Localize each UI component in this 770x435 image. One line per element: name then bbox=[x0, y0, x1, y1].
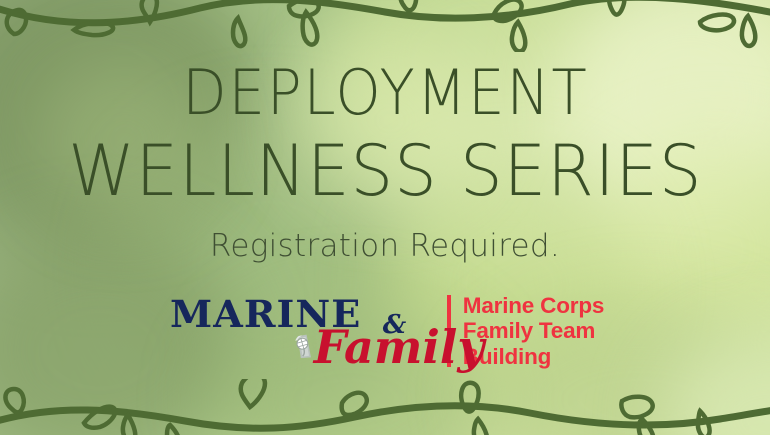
registration-subtitle: Registration Required. bbox=[210, 228, 560, 264]
title-line-1: DEPLOYMENT bbox=[182, 62, 588, 124]
org-line-1: Marine Corps bbox=[463, 293, 604, 318]
flyer-content: DEPLOYMENT WELLNESS SERIES Registration … bbox=[0, 0, 770, 435]
ampersand-glyph: & bbox=[383, 310, 406, 340]
marine-and-family-wordmark: MARINE Family & bbox=[166, 290, 441, 372]
mcftb-logo-lockup: MARINE Family & bbox=[166, 290, 604, 372]
deployment-wellness-series-flyer: DEPLOYMENT WELLNESS SERIES Registration … bbox=[0, 0, 770, 435]
title-line-2: WELLNESS SERIES bbox=[68, 136, 702, 206]
